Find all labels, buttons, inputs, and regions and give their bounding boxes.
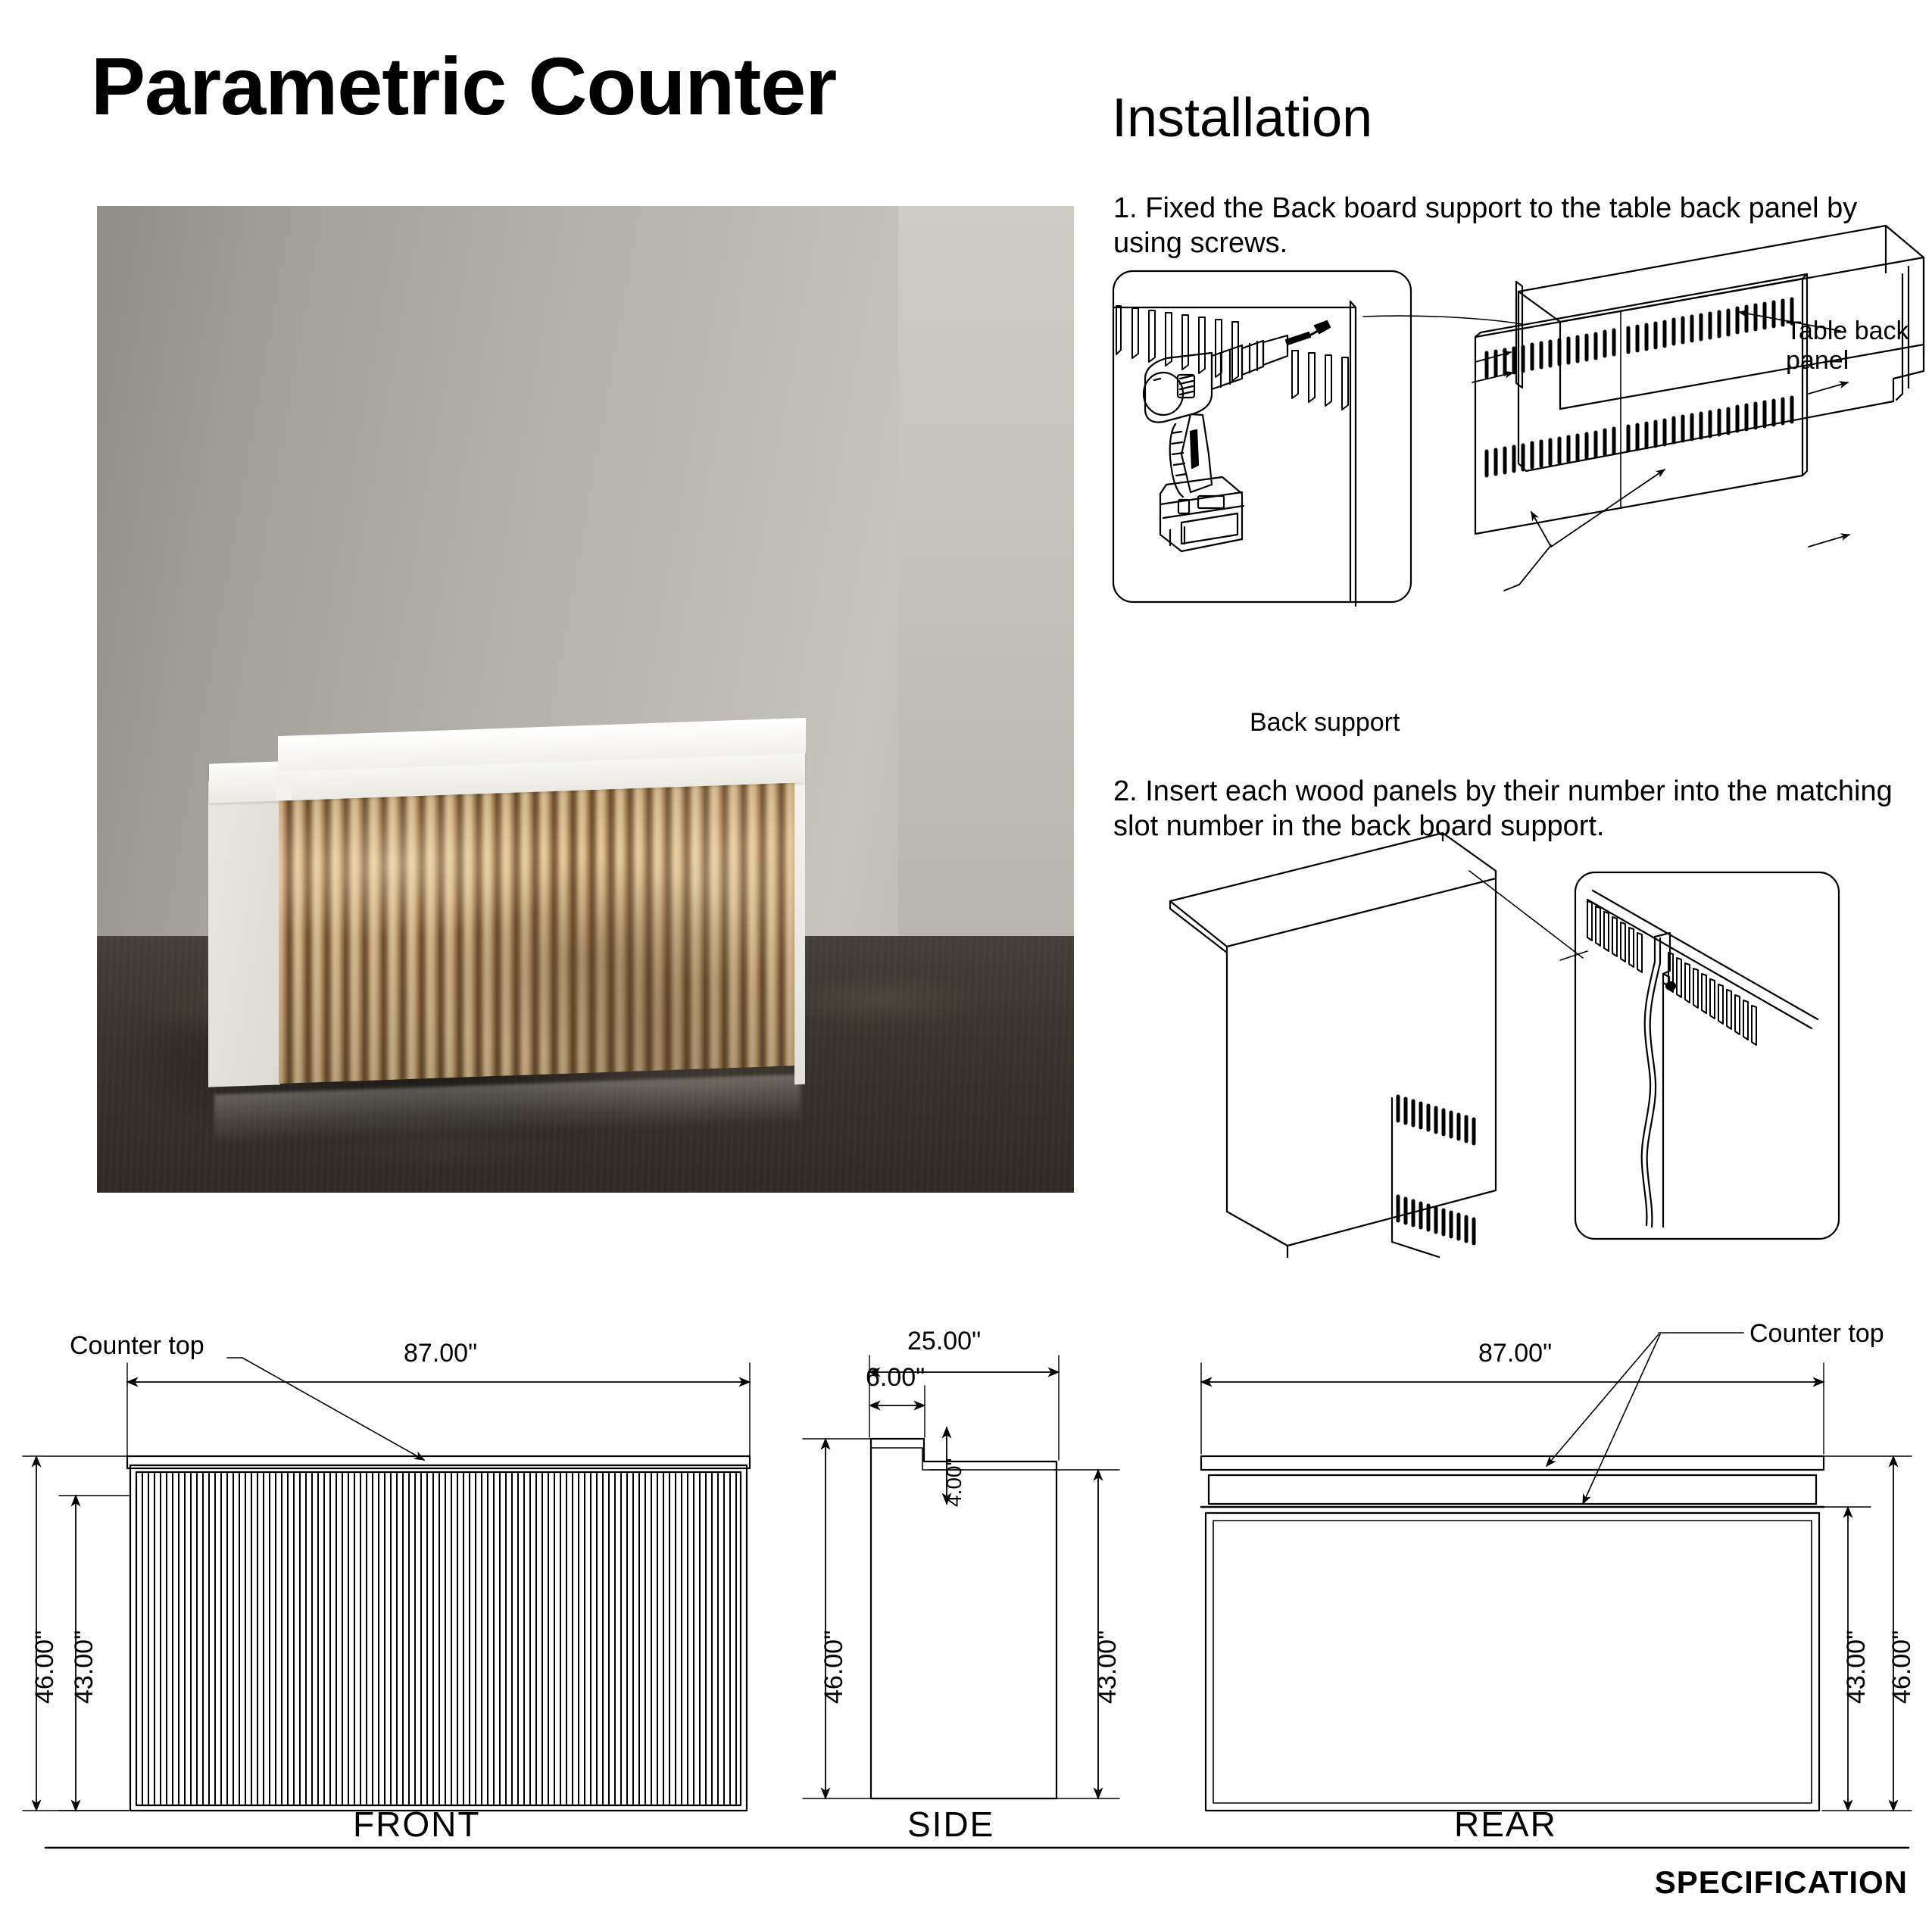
photo-wall-right bbox=[898, 206, 1074, 936]
installation-heading: Installation bbox=[1112, 91, 1372, 145]
side-step-drop-dim: 4.00" bbox=[942, 1458, 966, 1507]
front-width-dim: 87.00" bbox=[404, 1339, 477, 1368]
slat-ambient-shading bbox=[279, 760, 800, 1084]
page-title: Parametric Counter bbox=[91, 45, 836, 127]
drawing-rear-view bbox=[1201, 1333, 1912, 1811]
side-depth-dim: 25.00" bbox=[907, 1327, 981, 1356]
rear-height-outer-dim: 46.00" bbox=[1887, 1630, 1917, 1704]
front-view-caption: FRONT bbox=[353, 1804, 480, 1845]
installation-step-2: 2. Insert each wood panels by their numb… bbox=[1113, 774, 1916, 844]
front-height-outer-dim: 46.00" bbox=[30, 1630, 60, 1704]
installation-step-1: 1. Fixed the Back board support to the t… bbox=[1113, 191, 1916, 261]
rear-counter-top-label: Counter top bbox=[1749, 1319, 1884, 1349]
drawing-side-view bbox=[803, 1355, 1119, 1798]
diagram-insert-panels bbox=[1170, 833, 1583, 1257]
counter-left-side bbox=[208, 779, 280, 1087]
rear-height-inner-dim: 43.00" bbox=[1842, 1630, 1871, 1704]
diagram-exploded-assembly bbox=[1472, 226, 1924, 591]
side-view-caption: SIDE bbox=[907, 1804, 994, 1845]
counter-right-edge bbox=[794, 753, 805, 1084]
drawing-front-view bbox=[23, 1358, 750, 1811]
rear-width-dim: 87.00" bbox=[1478, 1339, 1552, 1368]
side-height-inner-dim: 43.00" bbox=[1093, 1630, 1122, 1704]
counter-top-notch bbox=[276, 774, 292, 800]
table-back-panel-label: Table back panel bbox=[1786, 317, 1915, 376]
product-photo bbox=[97, 206, 1074, 1193]
side-height-outer-dim: 46.00" bbox=[819, 1630, 849, 1704]
rear-view-caption: REAR bbox=[1454, 1804, 1557, 1845]
back-support-label: Back support bbox=[1250, 708, 1400, 738]
diagram-slot-detail-callout bbox=[1560, 872, 1839, 1239]
diagram-drill-callout bbox=[1113, 271, 1522, 606]
front-height-inner-dim: 43.00" bbox=[70, 1630, 99, 1704]
side-ledge-dim: 6.00" bbox=[866, 1363, 925, 1393]
specification-label: SPECIFICATION bbox=[1655, 1864, 1908, 1901]
counter-wood-slats bbox=[279, 760, 800, 1084]
front-counter-top-label: Counter top bbox=[70, 1331, 204, 1361]
